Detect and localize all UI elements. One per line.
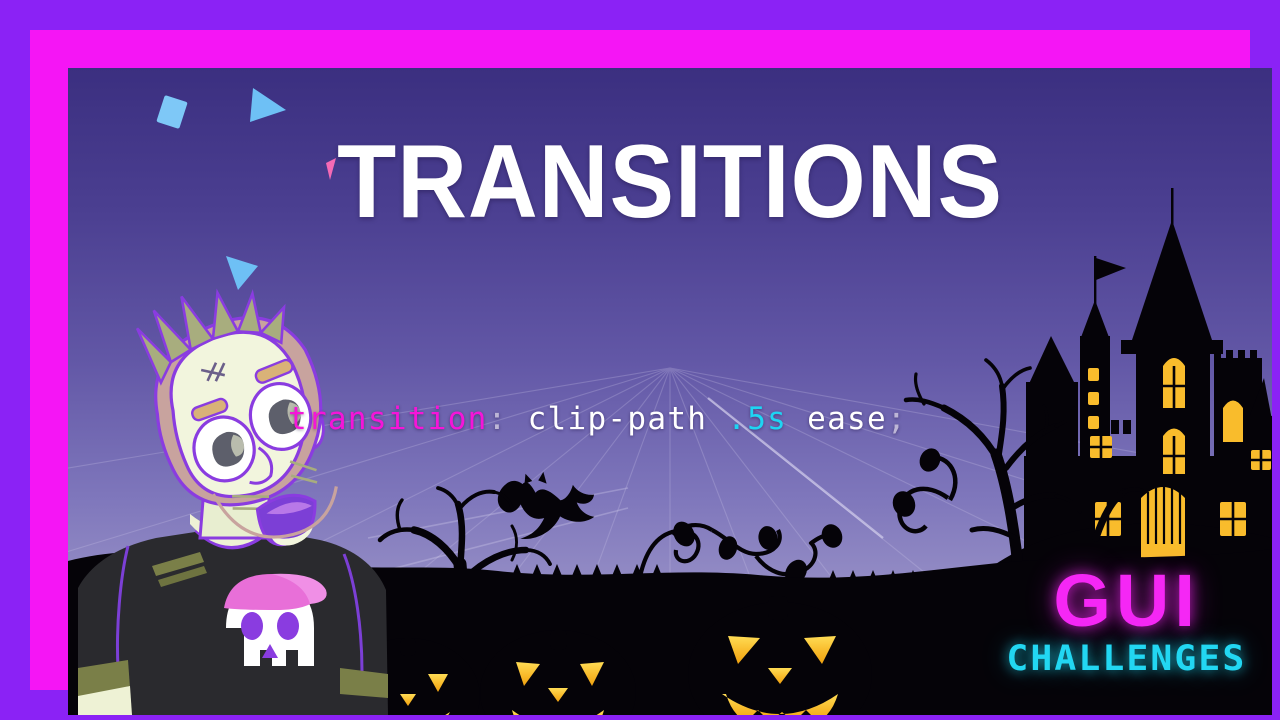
css-duration: .5s	[727, 401, 787, 437]
confetti-triangle-blue-upper	[250, 88, 286, 122]
logo-line-challenges: CHALLENGES	[1007, 642, 1247, 677]
css-easing: ease	[807, 401, 887, 437]
confetti-triangle-blue-lower	[226, 256, 258, 290]
css-colon: :	[488, 401, 508, 437]
css-property: transition	[288, 401, 488, 437]
code-snippet: transition: clip-path .5s ease;	[288, 401, 907, 437]
css-value: clip-path	[528, 401, 708, 437]
neon-frame: TRANSITIONS transition: clip-path .5s ea…	[30, 30, 1250, 690]
confetti-square-blue	[156, 95, 187, 129]
gui-challenges-logo: GUI CHALLENGES	[1011, 564, 1242, 677]
page-title: TRANSITIONS	[110, 130, 1230, 234]
video-thumbnail: TRANSITIONS transition: clip-path .5s ea…	[0, 0, 1280, 720]
css-semicolon: ;	[887, 401, 907, 437]
scene-canvas: TRANSITIONS transition: clip-path .5s ea…	[68, 68, 1272, 715]
logo-line-gui: GUI	[1011, 564, 1242, 638]
